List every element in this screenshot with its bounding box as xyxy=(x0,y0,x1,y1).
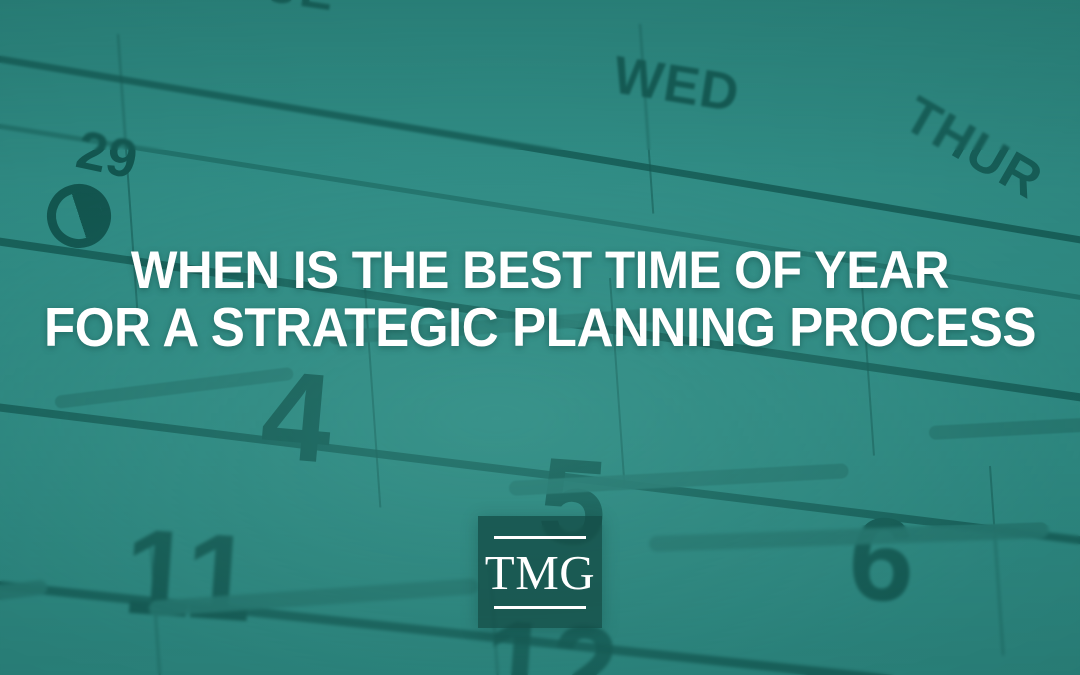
logo-top-rule xyxy=(494,536,586,539)
calendar-column-rule xyxy=(609,277,626,487)
calendar-month-label: EMBER xyxy=(532,0,1014,13)
logo-text: TMG xyxy=(485,548,595,597)
marker-stroke xyxy=(649,522,1049,552)
tmg-logo[interactable]: TMG xyxy=(478,516,602,628)
banner-image: EMBER MON TUE WED THUR 2 29 3 4 5 6 0 11… xyxy=(0,0,1080,675)
calendar-date-11: 11 xyxy=(120,509,257,640)
calendar-day-header-tue: TUE xyxy=(229,0,338,18)
calendar-day-header-wed: WED xyxy=(609,48,743,120)
marker-stroke xyxy=(928,411,1080,440)
calendar-column-rule xyxy=(859,255,875,455)
calendar-date-29: 29 xyxy=(72,122,142,187)
logo-bottom-rule xyxy=(494,606,586,609)
half-moon-icon xyxy=(38,175,119,256)
marker-stroke xyxy=(0,579,48,621)
marker-stroke xyxy=(54,366,294,408)
calendar-column-rule xyxy=(364,287,381,507)
calendar-row-rule xyxy=(0,0,1080,333)
calendar-date-6: 6 xyxy=(845,498,919,620)
calendar-day-header-thur: THUR xyxy=(896,88,1051,207)
calendar-column-rule xyxy=(989,465,1004,655)
